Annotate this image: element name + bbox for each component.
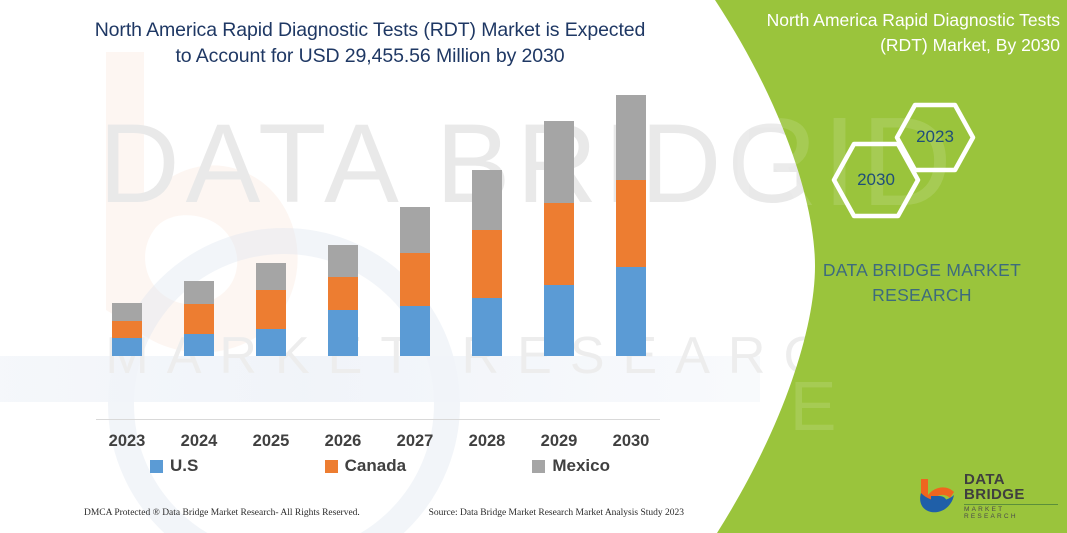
chart-bar (328, 245, 358, 356)
chart-bar (112, 303, 142, 356)
chart-bar-segment (256, 290, 286, 329)
panel-title-line-2: (RDT) Market, By 2030 (880, 35, 1060, 55)
panel-title-line-1: North America Rapid Diagnostic Tests (767, 10, 1060, 30)
chart-bar-segment (112, 303, 142, 321)
panel-brand: DATA BRIDGE MARKET RESEARCH (800, 258, 1044, 309)
chart-x-label: 2030 (601, 432, 661, 451)
chart-bar-segment (112, 321, 142, 338)
chart-bar-segment (400, 306, 430, 356)
legend-item[interactable]: U.S (150, 456, 198, 476)
legend-item[interactable]: Canada (325, 456, 406, 476)
chart-bar-segment (184, 304, 214, 334)
corner-logo: DATA BRIDGE MARKET RESEARCH (918, 474, 1058, 518)
chart-bar-segment (328, 310, 358, 356)
footer-source: Source: Data Bridge Market Research Mark… (429, 508, 684, 518)
chart-bar (400, 207, 430, 356)
hex-badge-2023: 2023 (893, 101, 977, 174)
chart-x-label: 2024 (169, 432, 229, 451)
footer-copyright: DMCA Protected ® Data Bridge Market Rese… (84, 508, 360, 518)
panel-brand-line-1: DATA BRIDGE MARKET (823, 260, 1021, 280)
chart-bar (472, 170, 502, 356)
legend-swatch-icon (150, 460, 163, 473)
stacked-bar-chart: 20232024202520262027202820292030 (0, 0, 700, 470)
chart-x-axis-labels: 20232024202520262027202820292030 (96, 432, 660, 458)
chart-bar-segment (472, 230, 502, 298)
svg-text:SE: SE (727, 367, 852, 445)
chart-bar (616, 95, 646, 356)
footer: DMCA Protected ® Data Bridge Market Rese… (84, 508, 684, 518)
panel-title: North America Rapid Diagnostic Tests (RD… (752, 8, 1060, 58)
chart-bar-segment (472, 298, 502, 356)
data-bridge-logo-icon (918, 477, 956, 515)
chart-bar-segment (328, 277, 358, 310)
chart-bar-segment (616, 95, 646, 180)
chart-bar-segment (328, 245, 358, 277)
chart-bar-segment (616, 267, 646, 356)
legend-label: Canada (345, 456, 406, 476)
chart-bar (256, 263, 286, 356)
chart-bar (544, 121, 574, 356)
chart-x-label: 2027 (385, 432, 445, 451)
chart-bar-segment (472, 170, 502, 230)
chart-x-label: 2023 (97, 432, 157, 451)
legend-label: U.S (170, 456, 198, 476)
legend-swatch-icon (532, 460, 545, 473)
corner-logo-main: DATA BRIDGE (964, 472, 1058, 502)
chart-bar-segment (400, 253, 430, 306)
chart-x-label: 2025 (241, 432, 301, 451)
panel-brand-line-2: RESEARCH (872, 285, 972, 305)
chart-bar-segment (112, 338, 142, 356)
chart-bar-segment (256, 329, 286, 356)
legend-swatch-icon (325, 460, 338, 473)
hex-badge-2023-label: 2023 (893, 127, 977, 147)
chart-bar-segment (184, 334, 214, 356)
chart-bar-segment (544, 203, 574, 285)
chart-legend: U.SCanadaMexico (150, 456, 610, 476)
chart-bar-segment (616, 180, 646, 267)
legend-item[interactable]: Mexico (532, 456, 610, 476)
chart-baseline-axis (96, 419, 660, 420)
corner-logo-rule (964, 504, 1058, 505)
chart-bar-segment (544, 285, 574, 356)
chart-bar-segment (544, 121, 574, 203)
legend-label: Mexico (552, 456, 610, 476)
infographic-canvas: DATA BRIDGE MARKET RESEARCH North Americ… (0, 0, 1067, 533)
chart-bar (184, 281, 214, 356)
chart-x-label: 2028 (457, 432, 517, 451)
chart-bar-segment (184, 281, 214, 304)
chart-bar-segment (256, 263, 286, 290)
chart-x-label: 2029 (529, 432, 589, 451)
chart-x-label: 2026 (313, 432, 373, 451)
corner-logo-text: DATA BRIDGE MARKET RESEARCH (964, 472, 1058, 520)
chart-bar-segment (400, 207, 430, 253)
corner-logo-sub: MARKET RESEARCH (964, 507, 1058, 520)
